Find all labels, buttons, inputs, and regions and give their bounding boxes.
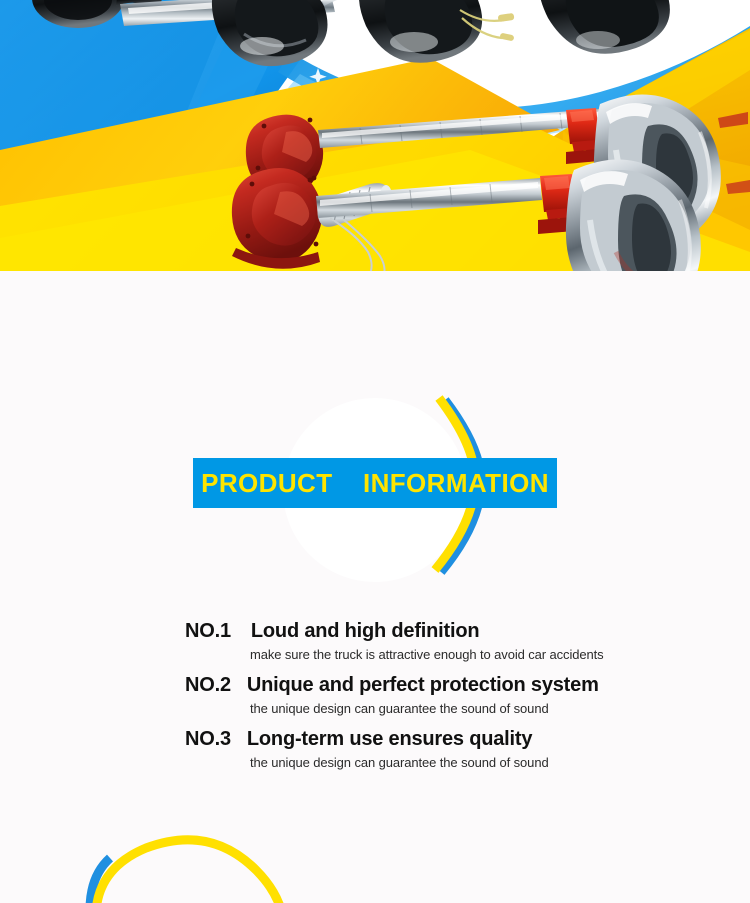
feature-number-1: NO.1 [185,620,231,643]
feature-subtitle-1: make sure the truck is attractive enough… [0,647,750,662]
feature-heading-2: NO.2 Unique and perfect protection syste… [0,674,750,697]
feature-heading-3: NO.3 Long-term use ensures quality [0,728,750,751]
product-hero-banner [0,0,750,271]
feature-title-3: Long-term use ensures quality [247,728,532,751]
feature-item-2: NO.2 Unique and perfect protection syste… [0,674,750,716]
section-title-block: PRODUCT INFORMATION [0,380,750,580]
section-title-banner: PRODUCT INFORMATION [193,458,557,508]
feature-item-3: NO.3 Long-term use ensures quality the u… [0,728,750,770]
section-title-text: PRODUCT INFORMATION [201,470,549,496]
feature-subtitle-2: the unique design can guarantee the soun… [0,701,750,716]
product-detail-page: PRODUCT INFORMATION NO.1 Loud and high d… [0,0,750,903]
feature-title-2: Unique and perfect protection system [247,674,599,697]
bottom-decorative-circle [60,818,380,903]
feature-number-3: NO.3 [185,728,231,751]
feature-subtitle-3: the unique design can guarantee the soun… [0,755,750,770]
feature-title-1: Loud and high definition [251,620,479,643]
feature-item-1: NO.1 Loud and high definition make sure … [0,620,750,662]
feature-list: NO.1 Loud and high definition make sure … [0,620,750,782]
feature-number-2: NO.2 [185,674,231,697]
feature-heading-1: NO.1 Loud and high definition [0,620,750,643]
